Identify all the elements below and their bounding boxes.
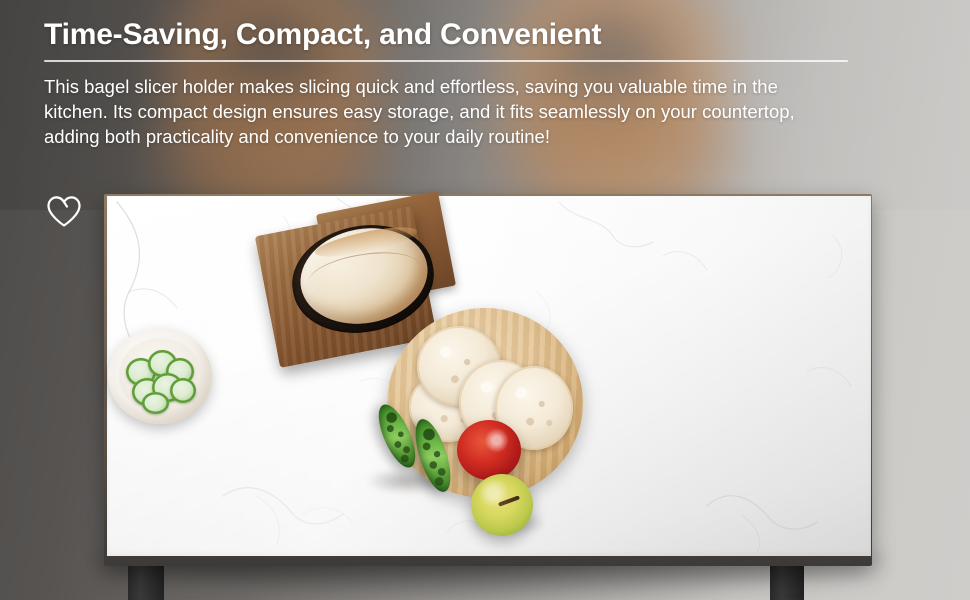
description-text: This bagel slicer holder makes slicing q… [44,74,806,149]
copy-block: Time-Saving, Compact, and Convenient Thi… [44,16,850,149]
cucumber-bowl [108,328,212,424]
product-scene [0,180,970,600]
product-feature-banner: Time-Saving, Compact, and Convenient Thi… [0,0,970,600]
heart-icon[interactable] [44,193,84,229]
cucumber-slice [142,392,169,414]
red-apple [457,420,521,480]
heart-icon-glyph [44,193,84,229]
page-title: Time-Saving, Compact, and Convenient [44,16,850,54]
cucumber-slice [170,378,196,403]
apple-stem [498,495,520,506]
green-apple [471,474,533,536]
title-divider [44,60,848,62]
